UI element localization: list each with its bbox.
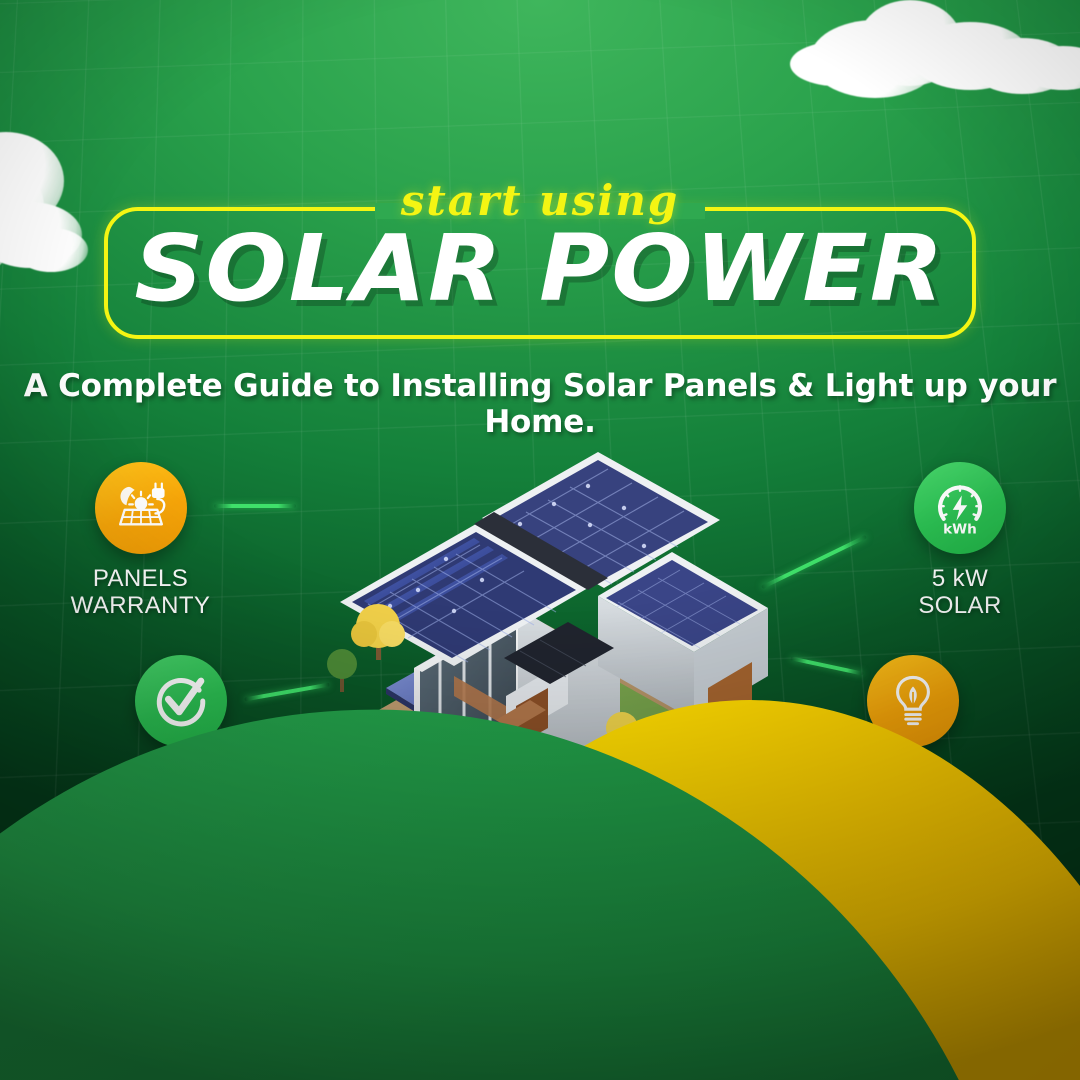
feature-bills-save[interactable]: 95% BILLS SAVE xyxy=(643,850,877,942)
lightbulb-leaf-icon xyxy=(884,672,942,730)
feature-eco-friendly[interactable]: ECO FRIENDLY xyxy=(830,655,995,813)
lightning-bolt-icon xyxy=(660,867,718,925)
svg-text:kWh: kWh xyxy=(943,521,977,537)
kwh-meter-icon: kWh xyxy=(931,479,989,537)
renewable-energy-badge xyxy=(276,850,368,942)
eco-friendly-label: ECO FRIENDLY xyxy=(830,759,995,813)
bills-save-badge xyxy=(643,850,735,942)
panels-warranty-badge xyxy=(95,462,187,554)
battery-life-badge xyxy=(135,655,227,747)
title-outline-box: SOLAR POWER xyxy=(104,207,976,339)
page-title: SOLAR POWER xyxy=(134,225,945,313)
garden-pond xyxy=(585,785,611,799)
solar-power-poster: start using SOLAR POWER A Complete Guide… xyxy=(0,0,1080,1080)
feature-battery-life[interactable]: BATTERY LIFE xyxy=(88,655,273,813)
feature-renewable-energy[interactable]: RENEWABLE ENERGY xyxy=(276,850,539,942)
feature-panels-warranty[interactable]: PANELS WARRANTY xyxy=(48,462,233,620)
eco-friendly-badge xyxy=(867,655,959,747)
5kw-solar-label: 5 kW SOLAR xyxy=(875,566,1045,620)
panels-warranty-label: PANELS WARRANTY xyxy=(48,566,233,620)
bills-save-label: 95% BILLS SAVE xyxy=(753,869,877,923)
solar-panel-plug-leaf-icon xyxy=(112,479,170,537)
cloud-top-right-icon xyxy=(790,0,1080,114)
5kw-solar-badge: kWh xyxy=(914,462,1006,554)
battery-life-label: BATTERY LIFE xyxy=(88,759,273,813)
renewable-energy-label: RENEWABLE ENERGY xyxy=(386,869,539,923)
globe-leaf-icon xyxy=(293,867,351,925)
feature-5kw-solar[interactable]: kWh 5 kW SOLAR xyxy=(875,462,1045,620)
title-block: start using SOLAR POWER xyxy=(0,176,1080,339)
isometric-house-illustration xyxy=(268,420,813,890)
check-circle-icon xyxy=(152,672,210,730)
